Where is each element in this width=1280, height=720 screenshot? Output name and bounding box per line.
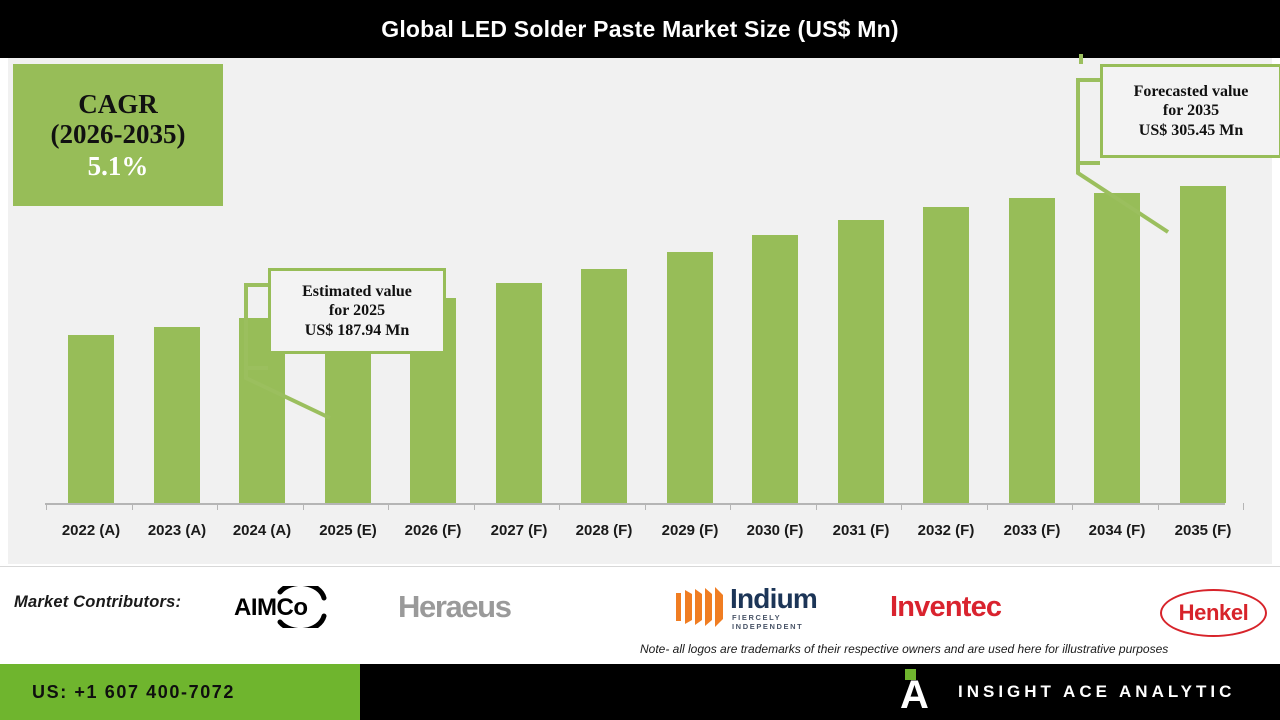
callout-connectors — [0, 0, 1280, 720]
callout-estimated-line3: US$ 187.94 Mn — [305, 321, 409, 341]
callout-estimated-line1: Estimated value — [302, 282, 412, 302]
callout-forecasted-line1: Forecasted value — [1134, 82, 1249, 102]
callout-forecasted-line3: US$ 305.45 Mn — [1139, 121, 1243, 141]
chart-infographic: Global LED Solder Paste Market Size (US$… — [0, 0, 1280, 720]
callout-forecasted-2035: Forecasted value for 2035 US$ 305.45 Mn — [1100, 64, 1280, 158]
callout-estimated-line2: for 2025 — [329, 301, 385, 321]
callout-estimated-2025: Estimated value for 2025 US$ 187.94 Mn — [268, 268, 446, 354]
logo-disclaimer-note: Note- all logos are trademarks of their … — [640, 642, 1272, 656]
callout-forecasted-line2: for 2035 — [1163, 101, 1219, 121]
